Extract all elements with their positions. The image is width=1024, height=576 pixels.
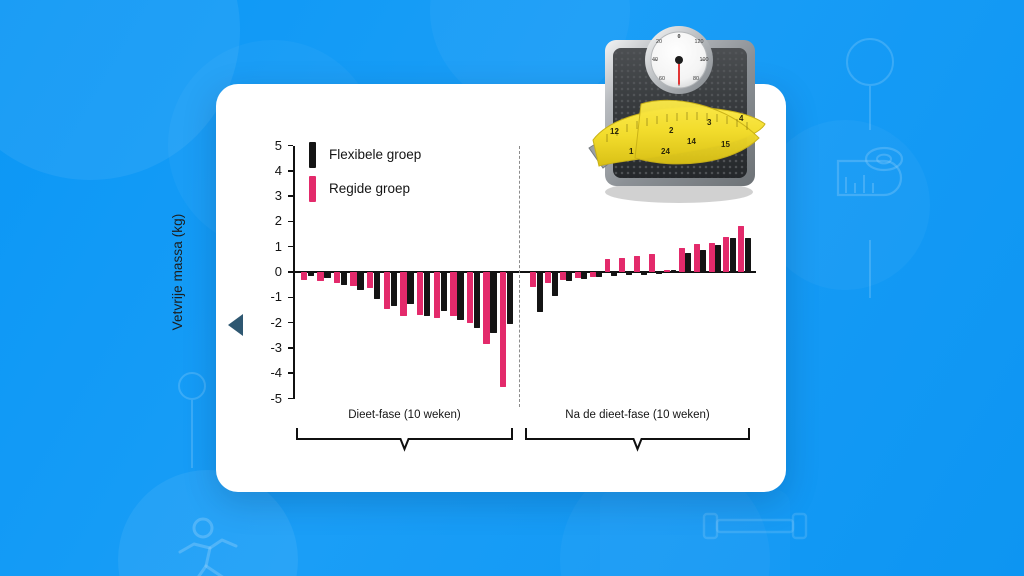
measuring-tape-icon: [826, 137, 912, 203]
phase-bracket-post: [525, 427, 750, 453]
bar-diet-rigid-11: [467, 272, 473, 323]
svg-text:60: 60: [659, 76, 665, 82]
bg-ring-left: [178, 372, 206, 400]
bar-post-flexible-13: [715, 245, 721, 272]
bg-connector-line-top: [869, 86, 871, 130]
bg-ring-top-right: [846, 38, 894, 86]
y-axis-tick-3: [288, 195, 293, 197]
bar-post-flexible-8: [641, 272, 647, 275]
bar-post-rigid-9: [649, 254, 655, 272]
y-axis-tick-label-2: 2: [260, 214, 282, 227]
bar-post-rigid-10: [664, 270, 670, 272]
bar-post-rigid-2: [545, 272, 551, 283]
bar-post-rigid-13: [709, 243, 715, 272]
bar-post-rigid-8: [634, 256, 640, 272]
bar-post-flexible-9: [656, 272, 662, 274]
svg-text:14: 14: [687, 137, 696, 146]
y-axis-tick-neg5: [288, 398, 293, 400]
y-axis-tick-label-neg5: -5: [260, 392, 282, 405]
bar-post-flexible-2: [552, 272, 558, 296]
bar-post-flexible-11: [685, 253, 691, 272]
bar-diet-rigid-8: [417, 272, 423, 315]
bar-diet-flexible-13: [507, 272, 513, 324]
bar-post-rigid-15: [738, 226, 744, 272]
y-axis-tick-neg1: [288, 297, 293, 299]
bar-post-rigid-3: [560, 272, 566, 280]
y-axis-tick-label-4: 4: [260, 164, 282, 177]
bar-post-flexible-15: [745, 238, 751, 272]
y-axis-tick-label-neg4: -4: [260, 366, 282, 379]
bar-diet-flexible-7: [407, 272, 413, 304]
bar-post-rigid-14: [723, 237, 729, 272]
running-person-icon: [166, 516, 258, 576]
bar-diet-flexible-9: [441, 272, 447, 311]
y-axis-tick-label-neg3: -3: [260, 341, 282, 354]
infographic-canvas: Vetvrije massa (kg)543210-1-2-3-4-5Flexi…: [0, 0, 1024, 576]
svg-text:1: 1: [629, 147, 634, 156]
y-axis-tick-label-5: 5: [260, 139, 282, 152]
y-axis-arrow-marker: [228, 314, 243, 336]
bar-post-flexible-4: [581, 272, 587, 279]
svg-text:24: 24: [661, 147, 670, 156]
phase-label-diet: Dieet-fase (10 weken): [296, 409, 513, 421]
svg-text:2: 2: [669, 126, 674, 135]
y-axis-tick-4: [288, 170, 293, 172]
bar-diet-rigid-5: [367, 272, 373, 288]
y-axis-tick-1: [288, 246, 293, 248]
y-axis-tick-neg3: [288, 347, 293, 349]
y-axis-title: Vetvrije massa (kg): [170, 172, 185, 372]
legend-label-flexible: Flexibele groep: [329, 147, 421, 162]
bar-diet-rigid-3: [334, 272, 340, 283]
svg-text:80: 80: [693, 76, 699, 82]
bar-post-flexible-3: [566, 272, 572, 281]
bar-diet-rigid-9: [434, 272, 440, 318]
bar-post-rigid-12: [694, 244, 700, 272]
bar-diet-flexible-5: [374, 272, 380, 299]
bar-diet-flexible-3: [341, 272, 347, 285]
bar-diet-flexible-1: [308, 272, 314, 276]
bar-post-rigid-6: [605, 259, 611, 272]
bar-post-flexible-7: [626, 272, 632, 275]
bar-post-rigid-1: [530, 272, 536, 287]
bar-diet-flexible-11: [474, 272, 480, 328]
bar-diet-flexible-12: [490, 272, 496, 333]
bar-post-rigid-5: [590, 272, 596, 277]
bar-post-rigid-4: [575, 272, 581, 278]
y-axis-tick-2: [288, 221, 293, 223]
y-axis-tick-label-neg2: -2: [260, 316, 282, 329]
svg-text:120: 120: [695, 39, 704, 45]
bg-soft-rect-b: [600, 490, 790, 576]
phase-bracket-diet: [296, 427, 513, 453]
legend-swatch-flexible: [309, 142, 316, 168]
bar-post-rigid-11: [679, 248, 685, 272]
bar-diet-rigid-10: [450, 272, 456, 316]
bar-diet-flexible-2: [324, 272, 330, 278]
bar-diet-rigid-6: [384, 272, 390, 309]
dumbbell-icon: [700, 498, 810, 554]
svg-text:12: 12: [610, 127, 619, 136]
bar-diet-rigid-4: [350, 272, 356, 286]
phase-label-post: Na de dieet-fase (10 weken): [525, 409, 750, 421]
svg-text:3: 3: [707, 118, 712, 127]
y-axis-tick-neg4: [288, 372, 293, 374]
bar-diet-rigid-7: [400, 272, 406, 316]
phase-divider-dashed: [519, 146, 520, 407]
bar-post-flexible-6: [611, 272, 617, 276]
bar-diet-rigid-13: [500, 272, 506, 387]
y-axis-tick-5: [288, 145, 293, 147]
svg-text:15: 15: [721, 140, 730, 149]
bar-post-flexible-1: [537, 272, 543, 312]
bar-post-rigid-7: [619, 258, 625, 272]
y-axis-tick-label-neg1: -1: [260, 290, 282, 303]
bar-diet-flexible-8: [424, 272, 430, 316]
y-axis-tick-label-1: 1: [260, 240, 282, 253]
y-axis-tick-label-3: 3: [260, 189, 282, 202]
bar-diet-flexible-4: [357, 272, 363, 290]
bg-circle-topleft: [0, 0, 240, 180]
y-axis-tick-label-0: 0: [260, 265, 282, 278]
bar-diet-rigid-2: [317, 272, 323, 281]
bar-diet-flexible-6: [391, 272, 397, 306]
legend-swatch-rigid: [309, 176, 316, 202]
y-axis-tick-neg2: [288, 322, 293, 324]
bar-diet-flexible-10: [457, 272, 463, 320]
bar-diet-rigid-12: [483, 272, 489, 344]
legend-label-rigid: Regide groep: [329, 181, 410, 196]
bg-connector-line-left: [191, 400, 193, 468]
bar-post-flexible-5: [596, 272, 602, 277]
bar-diet-rigid-1: [301, 272, 307, 280]
svg-text:20: 20: [656, 39, 662, 45]
bg-connector-line-bottom: [869, 240, 871, 298]
svg-text:4: 4: [739, 114, 744, 123]
bathroom-scale-with-measuring-tape-image: 0 20 40 60 80 100 120: [583, 8, 775, 204]
bar-post-flexible-14: [730, 238, 736, 272]
bar-post-flexible-10: [671, 270, 677, 272]
bar-post-flexible-12: [700, 250, 706, 272]
